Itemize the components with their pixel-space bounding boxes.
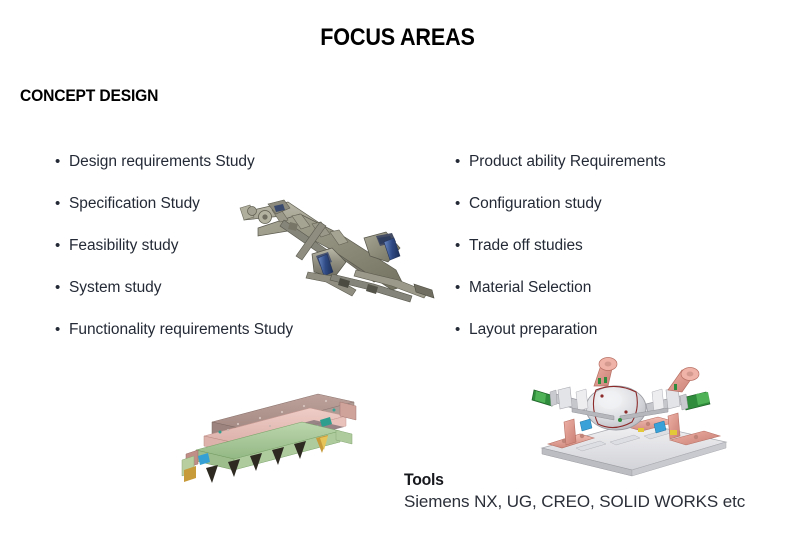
bullet-point-icon: •	[455, 320, 469, 339]
slide-canvas: FOCUS AREAS CONCEPT DESIGN • Design requ…	[0, 0, 795, 535]
list-item: • Functionality requirements Study	[55, 320, 293, 362]
list-item-label: Trade off studies	[469, 236, 583, 255]
list-item: • Product ability Requirements	[455, 152, 666, 194]
list-item-label: Layout preparation	[469, 320, 597, 339]
rear-axle-fixture-image	[528, 356, 736, 478]
bullet-point-icon: •	[55, 278, 69, 297]
bullet-point-icon: •	[455, 236, 469, 255]
tools-list: Siemens NX, UG, CREO, SOLID WORKS etc	[404, 491, 745, 513]
section-heading: CONCEPT DESIGN	[20, 86, 158, 106]
bullet-point-icon: •	[455, 278, 469, 297]
list-item-label: Material Selection	[469, 278, 591, 297]
bullet-point-icon: •	[55, 194, 69, 213]
page-title: FOCUS AREAS	[40, 24, 756, 52]
list-item-label: Configuration study	[469, 194, 602, 213]
list-item-label: System study	[69, 278, 161, 297]
bullet-point-icon: •	[455, 152, 469, 171]
list-item-label: Product ability Requirements	[469, 152, 666, 171]
list-item: • Material Selection	[455, 278, 666, 320]
tools-block: Tools Siemens NX, UG, CREO, SOLID WORKS …	[404, 470, 745, 513]
list-item: • Configuration study	[455, 194, 666, 236]
vehicle-chassis-frame-image	[228, 186, 440, 304]
tools-heading: Tools	[404, 470, 721, 490]
bullet-point-icon: •	[455, 194, 469, 213]
list-item: • Trade off studies	[455, 236, 666, 278]
bullet-point-icon: •	[55, 152, 69, 171]
side-rail-assembly-image	[168, 386, 363, 494]
list-item-label: Design requirements Study	[69, 152, 255, 171]
list-item-label: Functionality requirements Study	[69, 320, 293, 339]
bullet-list-right: • Product ability Requirements • Configu…	[455, 152, 666, 362]
bullet-point-icon: •	[55, 320, 69, 339]
bullet-point-icon: •	[55, 236, 69, 255]
list-item-label: Specification Study	[69, 194, 200, 213]
list-item-label: Feasibility study	[69, 236, 178, 255]
